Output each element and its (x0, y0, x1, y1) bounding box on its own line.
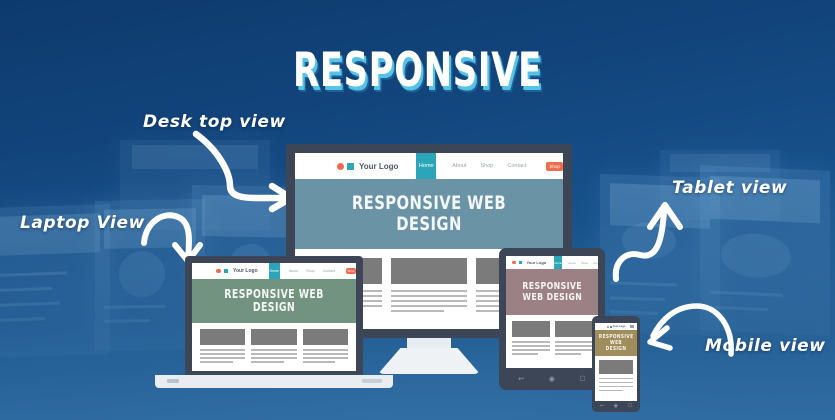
content-text-line (391, 300, 468, 302)
logo-square-icon (347, 163, 354, 170)
laptop-trackpad-indicator (167, 379, 179, 383)
logo-dot-icon (216, 269, 221, 274)
logo-square-icon (224, 269, 229, 274)
content-text-line (599, 382, 633, 383)
logo-dot-icon (607, 326, 609, 328)
laptop-logo[interactable]: Your Logo (216, 268, 258, 274)
desktop-content-column (391, 258, 468, 329)
logo-dot-icon (337, 163, 344, 170)
content-text-line (303, 361, 336, 363)
tablet-nav-contact[interactable]: Contact (593, 261, 598, 265)
content-image-block (200, 329, 245, 345)
tablet-nav-bar: ↩ ◉ ☐ (506, 372, 598, 386)
content-text-line (599, 378, 633, 379)
content-text-line (599, 390, 623, 391)
content-text-line (303, 357, 348, 359)
laptop-nav-contact[interactable]: Contact (323, 269, 335, 273)
annotation-mobile-view: Mobile view (705, 336, 826, 356)
content-text-line (512, 353, 538, 355)
content-image-block (512, 321, 550, 337)
tablet-logo-text: Your Logo (527, 260, 547, 265)
mobile-logo-text: Your Logo (613, 325, 626, 328)
logo-dot-icon (512, 261, 516, 265)
desktop-nav-contact[interactable]: Contact (507, 163, 526, 169)
mobile-screen: Your Logo RESPONSIVE WEB DESIGN (595, 323, 637, 401)
laptop-content-column (200, 329, 245, 371)
content-image-block (251, 329, 296, 345)
content-text-line (303, 353, 348, 355)
laptop-content-column (303, 329, 348, 371)
desktop-hero-heading: RESPONSIVE WEB DESIGN (324, 193, 533, 236)
tablet-screen: Your Logo Home About Shop Contact RESPON… (506, 256, 598, 368)
content-text-line (512, 341, 550, 343)
device-tablet: Your Logo Home About Shop Contact RESPON… (499, 248, 605, 390)
desktop-hero: RESPONSIVE WEB DESIGN (295, 179, 563, 249)
content-image-block (555, 321, 593, 337)
content-text-line (200, 353, 245, 355)
content-image-block (391, 258, 468, 284)
tablet-nav-home[interactable]: Home (554, 256, 562, 269)
laptop-hero: RESPONSIVE WEB DESIGN (192, 279, 356, 323)
content-text-line (303, 349, 348, 351)
tablet-hero-heading-line2: WEB DESIGN (522, 292, 582, 303)
desktop-nav-shop[interactable]: Shop (481, 163, 494, 169)
content-image-block (303, 329, 348, 345)
tablet-hero: RESPONSIVE WEB DESIGN (506, 269, 598, 315)
tablet-back-icon[interactable]: ↩ (518, 376, 524, 383)
responsive-banner: RESPONSIVE Desk top view Laptop View Tab… (0, 0, 835, 420)
laptop-hero-heading: RESPONSIVE WEB DESIGN (210, 288, 338, 315)
desktop-nav-cta[interactable]: Shop (546, 162, 563, 171)
content-text-line (251, 353, 296, 355)
laptop-screen: Your Logo Home About Shop Contact Shop R… (192, 263, 356, 371)
laptop-logo-text: Your Logo (233, 268, 258, 274)
laptop-nav-shop[interactable]: Shop (306, 269, 314, 273)
content-text-line (251, 361, 284, 363)
desktop-nav-about[interactable]: About (452, 163, 466, 169)
content-text-line (555, 345, 593, 347)
tablet-recents-icon[interactable]: ☐ (579, 376, 585, 383)
tablet-site-nav: Your Logo Home About Shop Contact (506, 256, 598, 269)
content-text-line (391, 290, 468, 292)
mobile-content (595, 356, 637, 401)
content-text-line (200, 349, 245, 351)
content-text-line (251, 349, 296, 351)
tablet-nav-about[interactable]: About (568, 261, 576, 265)
laptop-nav-cta[interactable]: Shop (346, 268, 356, 274)
tablet-logo[interactable]: Your Logo (512, 260, 546, 265)
laptop-nav-about[interactable]: About (289, 269, 298, 273)
tablet-nav-shop[interactable]: Shop (581, 261, 588, 265)
mobile-site-nav: Your Logo (595, 323, 637, 330)
content-image-block (599, 360, 633, 374)
content-text-line (555, 341, 593, 343)
content-text-line (391, 305, 468, 307)
desktop-site-nav: Your Logo Home About Shop Contact Shop (295, 153, 563, 179)
mobile-recents-icon[interactable]: ☐ (628, 404, 632, 409)
tablet-hero-heading-line1: RESPONSIVE (522, 281, 582, 292)
device-mobile-phone: Your Logo RESPONSIVE WEB DESIGN ↩ ◉ ☐ (592, 316, 640, 412)
page-title: RESPONSIVE (117, 43, 718, 98)
content-text-line (512, 345, 550, 347)
mobile-hero: RESPONSIVE WEB DESIGN (595, 330, 637, 356)
mobile-hero-heading-line2: WEB DESIGN (600, 340, 633, 352)
content-text-line (555, 353, 581, 355)
content-text-line (251, 357, 296, 359)
laptop-site-nav: Your Logo Home About Shop Contact Shop (192, 263, 356, 279)
content-text-line (599, 386, 633, 387)
mobile-back-icon[interactable]: ↩ (600, 404, 604, 409)
annotation-tablet-view: Tablet view (672, 178, 787, 198)
laptop-content-column (251, 329, 296, 371)
content-text-line (391, 295, 468, 297)
tablet-content-column (512, 321, 550, 368)
laptop-nav-home[interactable]: Home (269, 263, 280, 279)
laptop-content (192, 323, 356, 371)
desktop-logo-text: Your Logo (359, 162, 398, 171)
tablet-content-column (555, 321, 593, 368)
device-laptop: Your Logo Home About Shop Contact Shop R… (185, 256, 363, 378)
content-text-line (391, 310, 445, 312)
tablet-content (506, 315, 598, 368)
content-text-line (200, 357, 245, 359)
tablet-home-icon[interactable]: ◉ (549, 376, 555, 383)
annotation-desktop-view: Desk top view (143, 112, 286, 132)
logo-square-icon (519, 261, 523, 265)
annotation-laptop-view: Laptop View (20, 213, 145, 233)
mobile-home-icon[interactable]: ◉ (614, 404, 618, 409)
content-text-line (512, 349, 550, 351)
laptop-right-indicator (362, 379, 382, 383)
mobile-nav-bar: ↩ ◉ ☐ (595, 402, 637, 410)
desktop-nav-home[interactable]: Home (416, 153, 436, 179)
logo-square-icon (610, 326, 612, 328)
desktop-logo[interactable]: Your Logo (337, 162, 398, 171)
content-text-line (555, 349, 593, 351)
laptop-base (155, 375, 393, 388)
content-text-line (200, 361, 233, 363)
mobile-menu-icon[interactable] (630, 325, 634, 328)
